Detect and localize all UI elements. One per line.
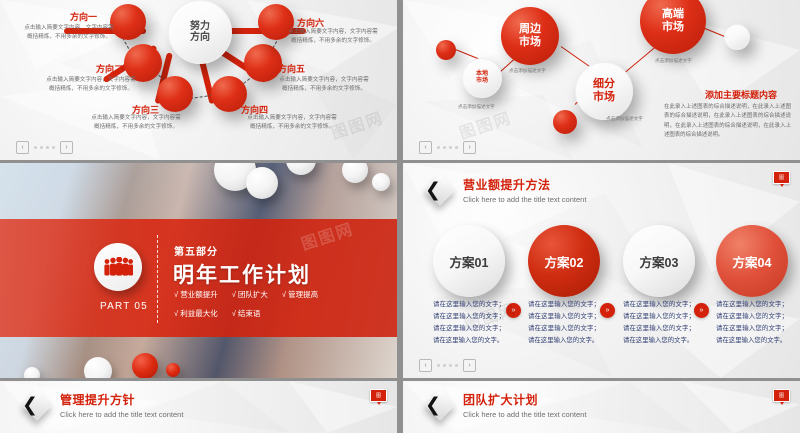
nav-dots bbox=[437, 146, 458, 149]
diamond-arrow-icon: ❮ bbox=[425, 390, 455, 420]
node-small-dot-bottom[interactable] bbox=[553, 110, 577, 134]
sphere-red-2 bbox=[166, 363, 180, 377]
slide-5-header: ❮ 管理提升方针 Click here to add the title tex… bbox=[22, 390, 183, 420]
caption-direction-4: 点击输入简要文字内容，文字内容需 概括精炼，不用多余的文字修饰。 bbox=[228, 114, 356, 131]
sphere-2 bbox=[246, 167, 278, 199]
slide-6-subtitle: Click here to add the title text content bbox=[463, 410, 586, 419]
node-peripheral-market[interactable]: 周边 市场 bbox=[501, 7, 559, 65]
node-segment-market[interactable]: 细分 市场 bbox=[575, 62, 633, 120]
part-icon-circle bbox=[94, 243, 142, 291]
slide-6-team-expansion[interactable]: 图 ❮ 团队扩大计划 Click here to add the title t… bbox=[403, 381, 800, 433]
label-direction-5: 方向五 bbox=[278, 62, 305, 75]
slide-5-title: 管理提升方针 bbox=[60, 391, 183, 408]
slide-4-nav[interactable]: ‹ › bbox=[419, 359, 476, 372]
option-circle-04[interactable]: 方案04 bbox=[716, 225, 788, 297]
part-label: PART 05 bbox=[100, 301, 148, 312]
side-body: 在此录入上述图表的综合描述说明，在此录入上述图表的综合描述说明，在此录入上述图表… bbox=[664, 103, 791, 141]
option-body-02: 请在这里输入您的文字；请在这里输入您的文字；请在这里输入您的文字；请在这里输入您… bbox=[528, 299, 600, 346]
option-body-04: 请在这里输入您的文字；请在这里输入您的文字；请在这里输入您的文字；请在这里输入您… bbox=[716, 299, 788, 346]
badge-tail bbox=[780, 402, 784, 405]
diamond-arrow-icon: ❮ bbox=[22, 390, 52, 420]
node-highend-market[interactable]: 高端 市场 bbox=[640, 0, 706, 54]
sphere-5 bbox=[372, 173, 390, 191]
sphere-7 bbox=[24, 367, 40, 378]
nav-dots bbox=[437, 364, 458, 367]
chevron-arrow-3: » bbox=[694, 303, 709, 318]
slide-3-title: 明年工作计划 bbox=[173, 259, 311, 289]
slide-1-direction-network[interactable]: 努力 方向 方向一 点击输入简要文字内容，文字内容需 概括精炼，不用多余的文字修… bbox=[0, 0, 397, 160]
slide-2-market-bubbles[interactable]: 本地 市场 周边 市场 细分 市场 高端 市场 点击添加描述文字 点击添加描述文… bbox=[403, 0, 800, 160]
slide-1-nav[interactable]: ‹ › bbox=[16, 141, 73, 154]
chevron-arrow-1: » bbox=[506, 303, 521, 318]
option-body-03: 请在这里输入您的文字；请在这里输入您的文字；请在这里输入您的文字；请在这里输入您… bbox=[623, 299, 695, 346]
caption-direction-5: 点击输入简要文字内容，文字内容需 概括精炼，不用多余的文字修饰。 bbox=[260, 76, 388, 93]
caption-direction-6: 点击输入简要文字内容，文字内容需 概括精炼，不用多余的文字修饰。 bbox=[272, 28, 394, 45]
watermark: 图图网 bbox=[456, 104, 515, 144]
slide-6-title: 团队扩大计划 bbox=[463, 391, 586, 408]
caption-segment-market: 点击添加描述文字 bbox=[606, 116, 643, 122]
caption-highend-market: 点击添加描述文字 bbox=[655, 58, 692, 64]
bullet-item: √ 营业额提升 bbox=[174, 289, 218, 300]
node-center[interactable]: 努力 方向 bbox=[168, 0, 232, 64]
sphere-6 bbox=[84, 357, 112, 378]
node-small-white-right[interactable] bbox=[724, 24, 750, 50]
logo-badge: 图 bbox=[773, 171, 790, 187]
node-local-market[interactable]: 本地 市场 bbox=[462, 58, 502, 98]
slide-5-management-policy[interactable]: 图 ❮ 管理提升方针 Click here to add the title t… bbox=[0, 381, 397, 433]
prev-button[interactable]: ‹ bbox=[419, 141, 432, 154]
slide-2-nav[interactable]: ‹ › bbox=[419, 141, 476, 154]
next-button[interactable]: › bbox=[463, 141, 476, 154]
bullet-item: √ 管理提高 bbox=[282, 289, 318, 300]
next-button[interactable]: › bbox=[463, 359, 476, 372]
label-direction-2: 方向二 bbox=[96, 62, 123, 75]
node-small-dot-left[interactable] bbox=[436, 40, 456, 60]
nav-dots bbox=[34, 146, 55, 149]
chevron-arrow-2: » bbox=[600, 303, 615, 318]
slide-3-part-cover[interactable]: PART 05 第五部分 明年工作计划 √ 营业额提升 √ 团队扩大 √ 管理提… bbox=[0, 163, 397, 378]
bullet-item: √ 利益最大化 bbox=[174, 308, 218, 319]
caption-direction-2: 点击输入简要文字内容，文字内容需 概括精炼，不用多余的文字修饰。 bbox=[30, 76, 152, 93]
badge-tail bbox=[377, 402, 381, 405]
slide-4-title: 营业额提升方法 bbox=[463, 176, 586, 193]
badge-box: 图 bbox=[370, 389, 387, 402]
slide-5-subtitle: Click here to add the title text content bbox=[60, 410, 183, 419]
slide-grid: 努力 方向 方向一 点击输入简要文字内容，文字内容需 概括精炼，不用多余的文字修… bbox=[0, 0, 800, 433]
slide-3-subtitle: 第五部分 bbox=[174, 243, 218, 258]
prev-button[interactable]: ‹ bbox=[16, 141, 29, 154]
logo-badge: 图 bbox=[773, 389, 790, 405]
sphere-red-1 bbox=[132, 353, 158, 378]
dashed-divider bbox=[157, 235, 158, 323]
next-button[interactable]: › bbox=[60, 141, 73, 154]
caption-local-market: 点击添加描述文字 bbox=[458, 104, 495, 110]
badge-tail bbox=[780, 184, 784, 187]
slide-4-revenue-methods[interactable]: 图 ❮ 营业额提升方法 Click here to add the title … bbox=[403, 163, 800, 378]
badge-box: 图 bbox=[773, 389, 790, 402]
option-circle-03[interactable]: 方案03 bbox=[623, 225, 695, 297]
bullet-item: √ 团队扩大 bbox=[232, 289, 268, 300]
side-title: 添加主要标题内容 bbox=[705, 88, 777, 101]
caption-peripheral-market: 点击添加描述文字 bbox=[509, 68, 546, 74]
slide-4-header: ❮ 营业额提升方法 Click here to add the title te… bbox=[425, 175, 586, 205]
people-group-icon bbox=[103, 257, 133, 277]
slide-6-header: ❮ 团队扩大计划 Click here to add the title tex… bbox=[425, 390, 586, 420]
caption-direction-3: 点击输入简要文字内容，文字内容需 概括精炼，不用多余的文字修饰。 bbox=[72, 114, 200, 131]
node-direction-3[interactable] bbox=[157, 76, 193, 112]
slide-3-bullet-list: √ 营业额提升 √ 团队扩大 √ 管理提高 √ 利益最大化 √ 结束语 bbox=[174, 289, 384, 319]
option-circle-01[interactable]: 方案01 bbox=[433, 225, 505, 297]
label-direction-1: 方向一 bbox=[70, 10, 97, 23]
option-body-01: 请在这里输入您的文字；请在这里输入您的文字；请在这里输入您的文字；请在这里输入您… bbox=[433, 299, 505, 346]
option-circle-02[interactable]: 方案02 bbox=[528, 225, 600, 297]
caption-direction-1: 点击输入简要文字内容，文字内容需 概括精炼，不用多余的文字修饰。 bbox=[8, 24, 130, 41]
slide-4-subtitle: Click here to add the title text content bbox=[463, 195, 586, 204]
badge-box: 图 bbox=[773, 171, 790, 184]
prev-button[interactable]: ‹ bbox=[419, 359, 432, 372]
bullet-item: √ 结束语 bbox=[232, 308, 261, 319]
diamond-arrow-icon: ❮ bbox=[425, 175, 455, 205]
logo-badge: 图 bbox=[370, 389, 387, 405]
